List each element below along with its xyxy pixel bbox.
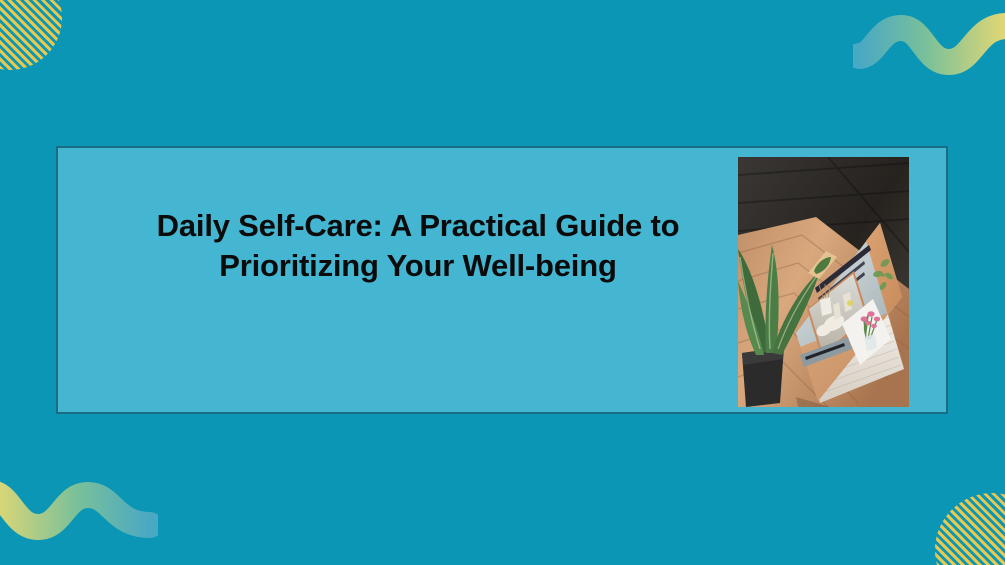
gradient-wave-icon xyxy=(853,12,1005,80)
content-panel: Daily Self-Care: A Practical Guide to Pr… xyxy=(56,146,948,414)
striped-circle-icon xyxy=(0,0,62,70)
page-title: Daily Self-Care: A Practical Guide to Pr… xyxy=(98,206,738,285)
gradient-wave-icon xyxy=(0,475,158,545)
slide-canvas: Daily Self-Care: A Practical Guide to Pr… xyxy=(0,0,1005,565)
book-cover-image xyxy=(738,157,909,407)
striped-circle-icon xyxy=(935,493,1005,565)
